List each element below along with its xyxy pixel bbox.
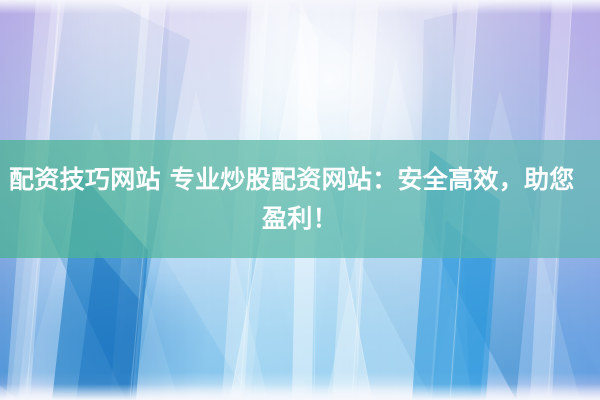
top-edge-fade [0,0,600,14]
headline-line-1: 配资技巧网站 专业炒股配资网站：安全高效，助您 [6,160,594,199]
headline-line-2: 盈利！ [6,199,594,238]
bottom-edge-fade [0,384,600,400]
lower-left-blue-glow [24,264,204,400]
promo-banner: 配资技巧网站 专业炒股配资网站：安全高效，助您 盈利！ [0,0,600,400]
headline-block: 配资技巧网站 专业炒股配资网站：安全高效，助您 盈利！ [0,140,600,258]
